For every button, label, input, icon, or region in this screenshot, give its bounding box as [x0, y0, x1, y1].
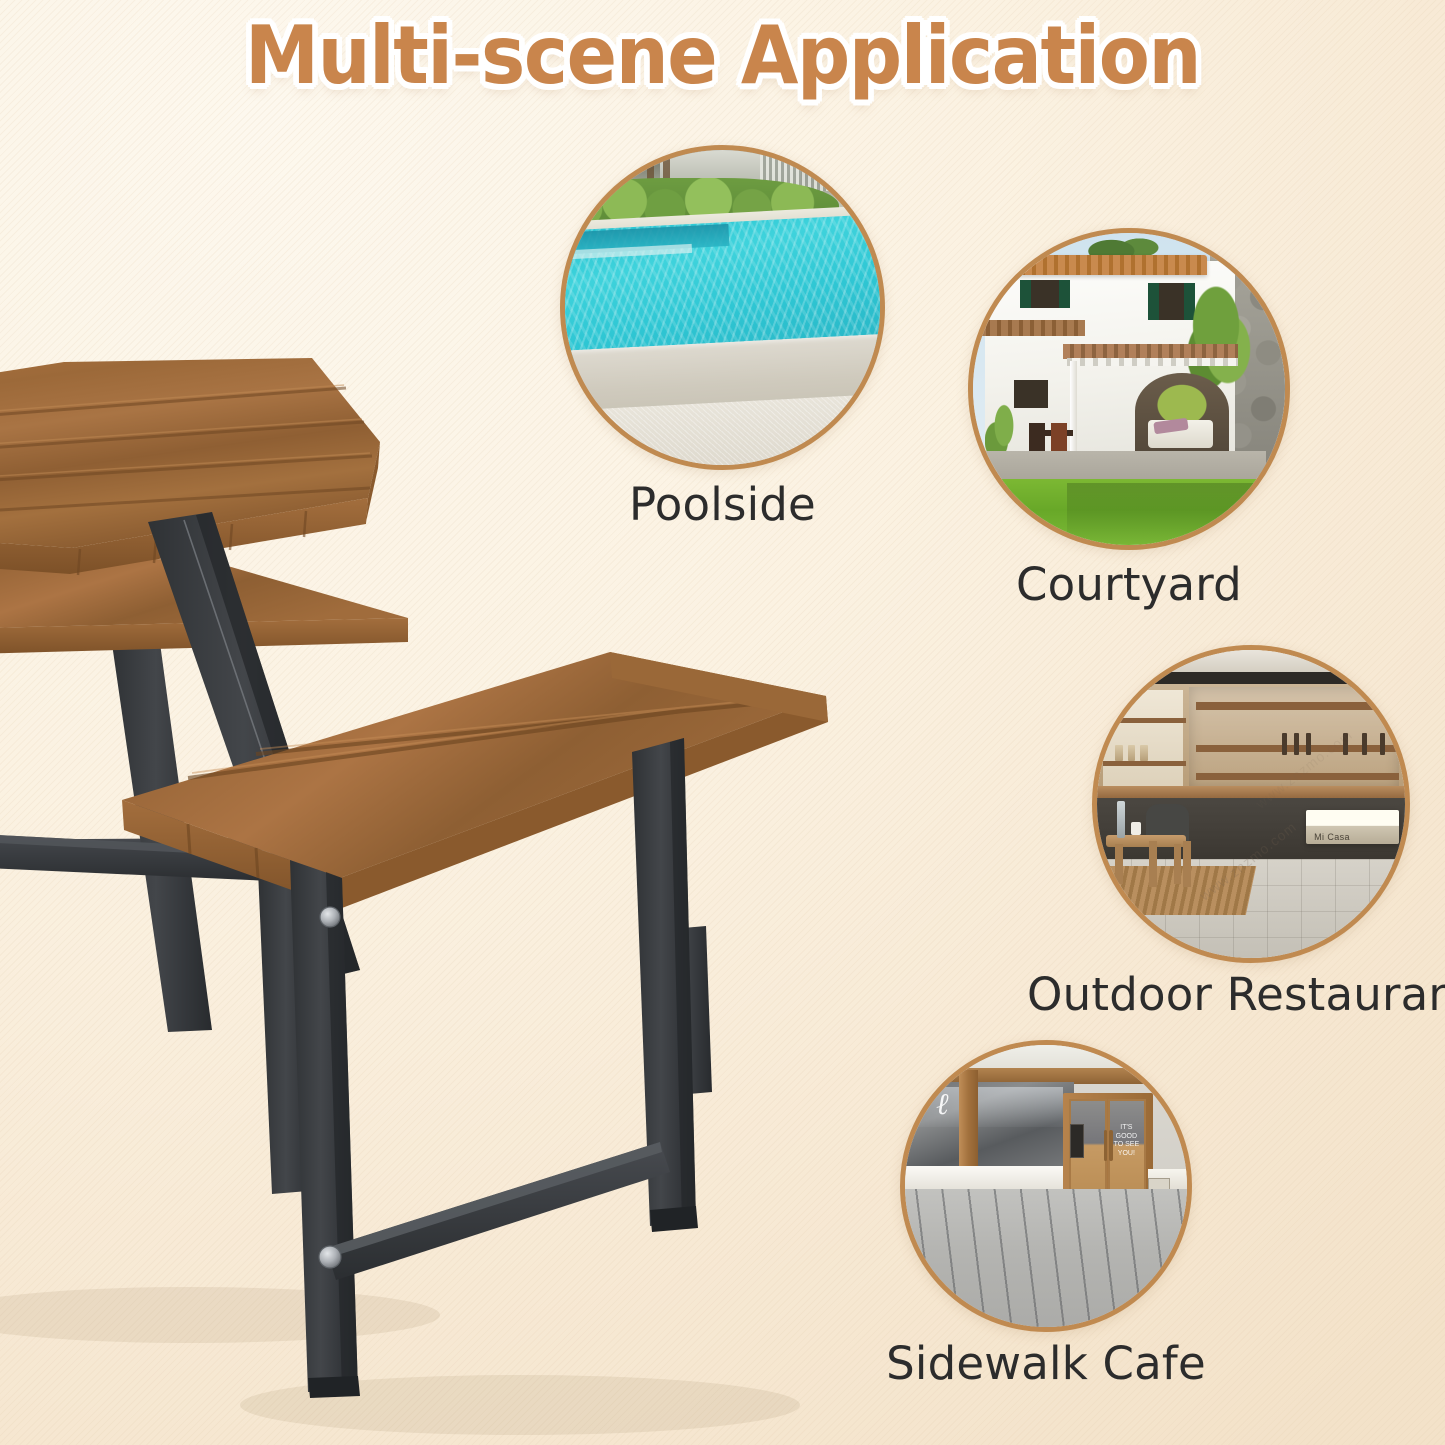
restaurant-jar-1: [1115, 745, 1122, 760]
courtyard-window-upper-left: [1031, 280, 1059, 308]
page-title: Multi-scene Application: [245, 16, 1200, 96]
courtyard-lawn-shadow: [1067, 483, 1254, 550]
restaurant-table-leg-1: [1115, 844, 1122, 884]
page-title-container: Multi-scene Application: [0, 16, 1445, 96]
restaurant-bottle-e: [1362, 733, 1367, 755]
restaurant-bottle-c: [1306, 733, 1311, 755]
cafe-wooden-sidewalk-deck: [900, 1189, 1192, 1332]
courtyard-pergola-beams: [1067, 358, 1239, 366]
courtyard-shutter-left-a: [1020, 280, 1031, 308]
restaurant-bottle-a: [1282, 733, 1287, 755]
cafe-door-handle-left[interactable]: [1104, 1130, 1108, 1161]
courtyard-photo: [973, 233, 1285, 545]
bench-front-left-foot: [308, 1376, 360, 1398]
restaurant-back-shelf-top: [1196, 702, 1399, 709]
restaurant-chair-leg-2: [1183, 841, 1190, 887]
restaurant-jar-3: [1140, 745, 1147, 760]
courtyard-shutter-right-a: [1148, 283, 1159, 320]
restaurant-water-bottle: [1117, 801, 1125, 838]
scene-outdoor-restaurant-label: Outdoor Restaurant: [1027, 968, 1445, 1021]
scene-sidewalk-cafe-circle[interactable]: ℓ IT'S GOOD TO SEE YOU!: [900, 1040, 1192, 1332]
bench-front-right-foot: [650, 1206, 698, 1232]
restaurant-bottle-f: [1380, 733, 1385, 755]
restaurant-counter-sign-text: Mi Casa: [1314, 832, 1350, 842]
restaurant-shelf-1: [1103, 718, 1186, 723]
bench-cross-stretcher-top: [326, 1142, 662, 1258]
scene-poolside-circle[interactable]: [560, 145, 885, 470]
bench: [122, 652, 828, 1398]
scene-poolside-label: Poolside: [629, 478, 816, 531]
cafe-chalkboard-sign: [1070, 1124, 1084, 1158]
courtyard-main-roof-tiles: [1014, 255, 1207, 275]
courtyard-shutter-left-b: [1059, 280, 1070, 308]
courtyard-window-upper-right: [1159, 283, 1184, 320]
poolside-photo: [565, 150, 880, 465]
courtyard-lower-roof-left: [979, 320, 1085, 336]
bench-bolt-lower: [319, 1246, 341, 1268]
scene-courtyard-label: Courtyard: [1016, 558, 1242, 611]
cafe-door-sign-text: IT'S GOOD TO SEE YOU!: [1111, 1124, 1142, 1159]
restaurant-cup: [1131, 822, 1141, 834]
cafe-window-sill: [905, 1166, 1074, 1191]
courtyard-tree: [1185, 283, 1254, 389]
bench-bolt-top: [320, 907, 340, 927]
restaurant-shelf-2: [1103, 761, 1186, 766]
restaurant-light-panel: [1103, 690, 1183, 789]
restaurant-chair-leg-1: [1149, 841, 1156, 887]
outdoor-restaurant-photo: Mi Casa www.znzmo.com www.znzmo.com: [1097, 650, 1405, 958]
scene-sidewalk-cafe-label: Sidewalk Cafe: [886, 1337, 1206, 1390]
dining-table: [0, 358, 408, 1032]
restaurant-table-leg-2: [1174, 844, 1181, 884]
restaurant-jar-2: [1128, 745, 1135, 760]
scene-outdoor-restaurant-circle[interactable]: Mi Casa www.znzmo.com www.znzmo.com: [1092, 645, 1410, 963]
scene-courtyard-circle[interactable]: [968, 228, 1290, 550]
restaurant-bottle-b: [1294, 733, 1299, 755]
sidewalk-cafe-photo: ℓ IT'S GOOD TO SEE YOU!: [905, 1045, 1187, 1327]
marketing-image-canvas: Multi-scene Application: [0, 0, 1445, 1445]
table-floor-shadow: [0, 1287, 440, 1343]
